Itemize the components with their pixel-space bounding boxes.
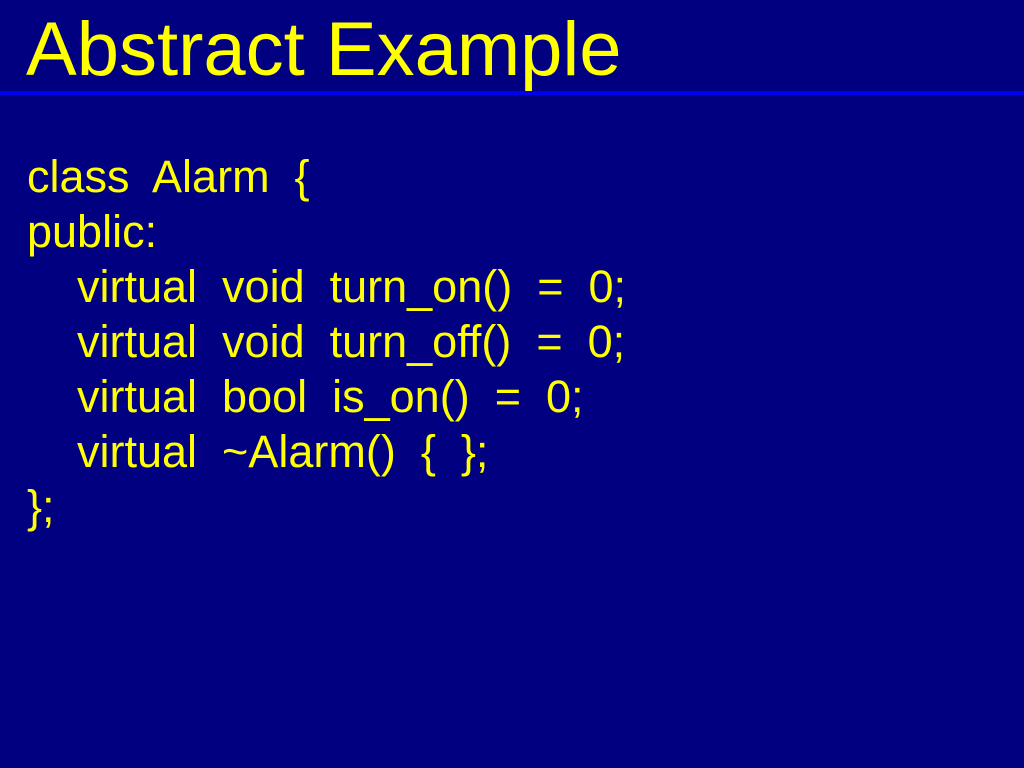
code-line: }; bbox=[27, 479, 997, 534]
code-line: virtual void turn_on() = 0; bbox=[27, 259, 997, 314]
code-line: virtual ~Alarm() { }; bbox=[27, 424, 997, 479]
code-line: virtual void turn_off() = 0; bbox=[27, 314, 997, 369]
page-title: Abstract Example bbox=[26, 8, 622, 92]
code-line: public: bbox=[27, 204, 997, 259]
code-block: class Alarm {public: virtual void turn_o… bbox=[27, 149, 997, 534]
title-divider bbox=[0, 91, 1024, 95]
code-line: class Alarm { bbox=[27, 149, 997, 204]
slide: Abstract Example class Alarm {public: vi… bbox=[0, 0, 1024, 768]
code-line: virtual bool is_on() = 0; bbox=[27, 369, 997, 424]
